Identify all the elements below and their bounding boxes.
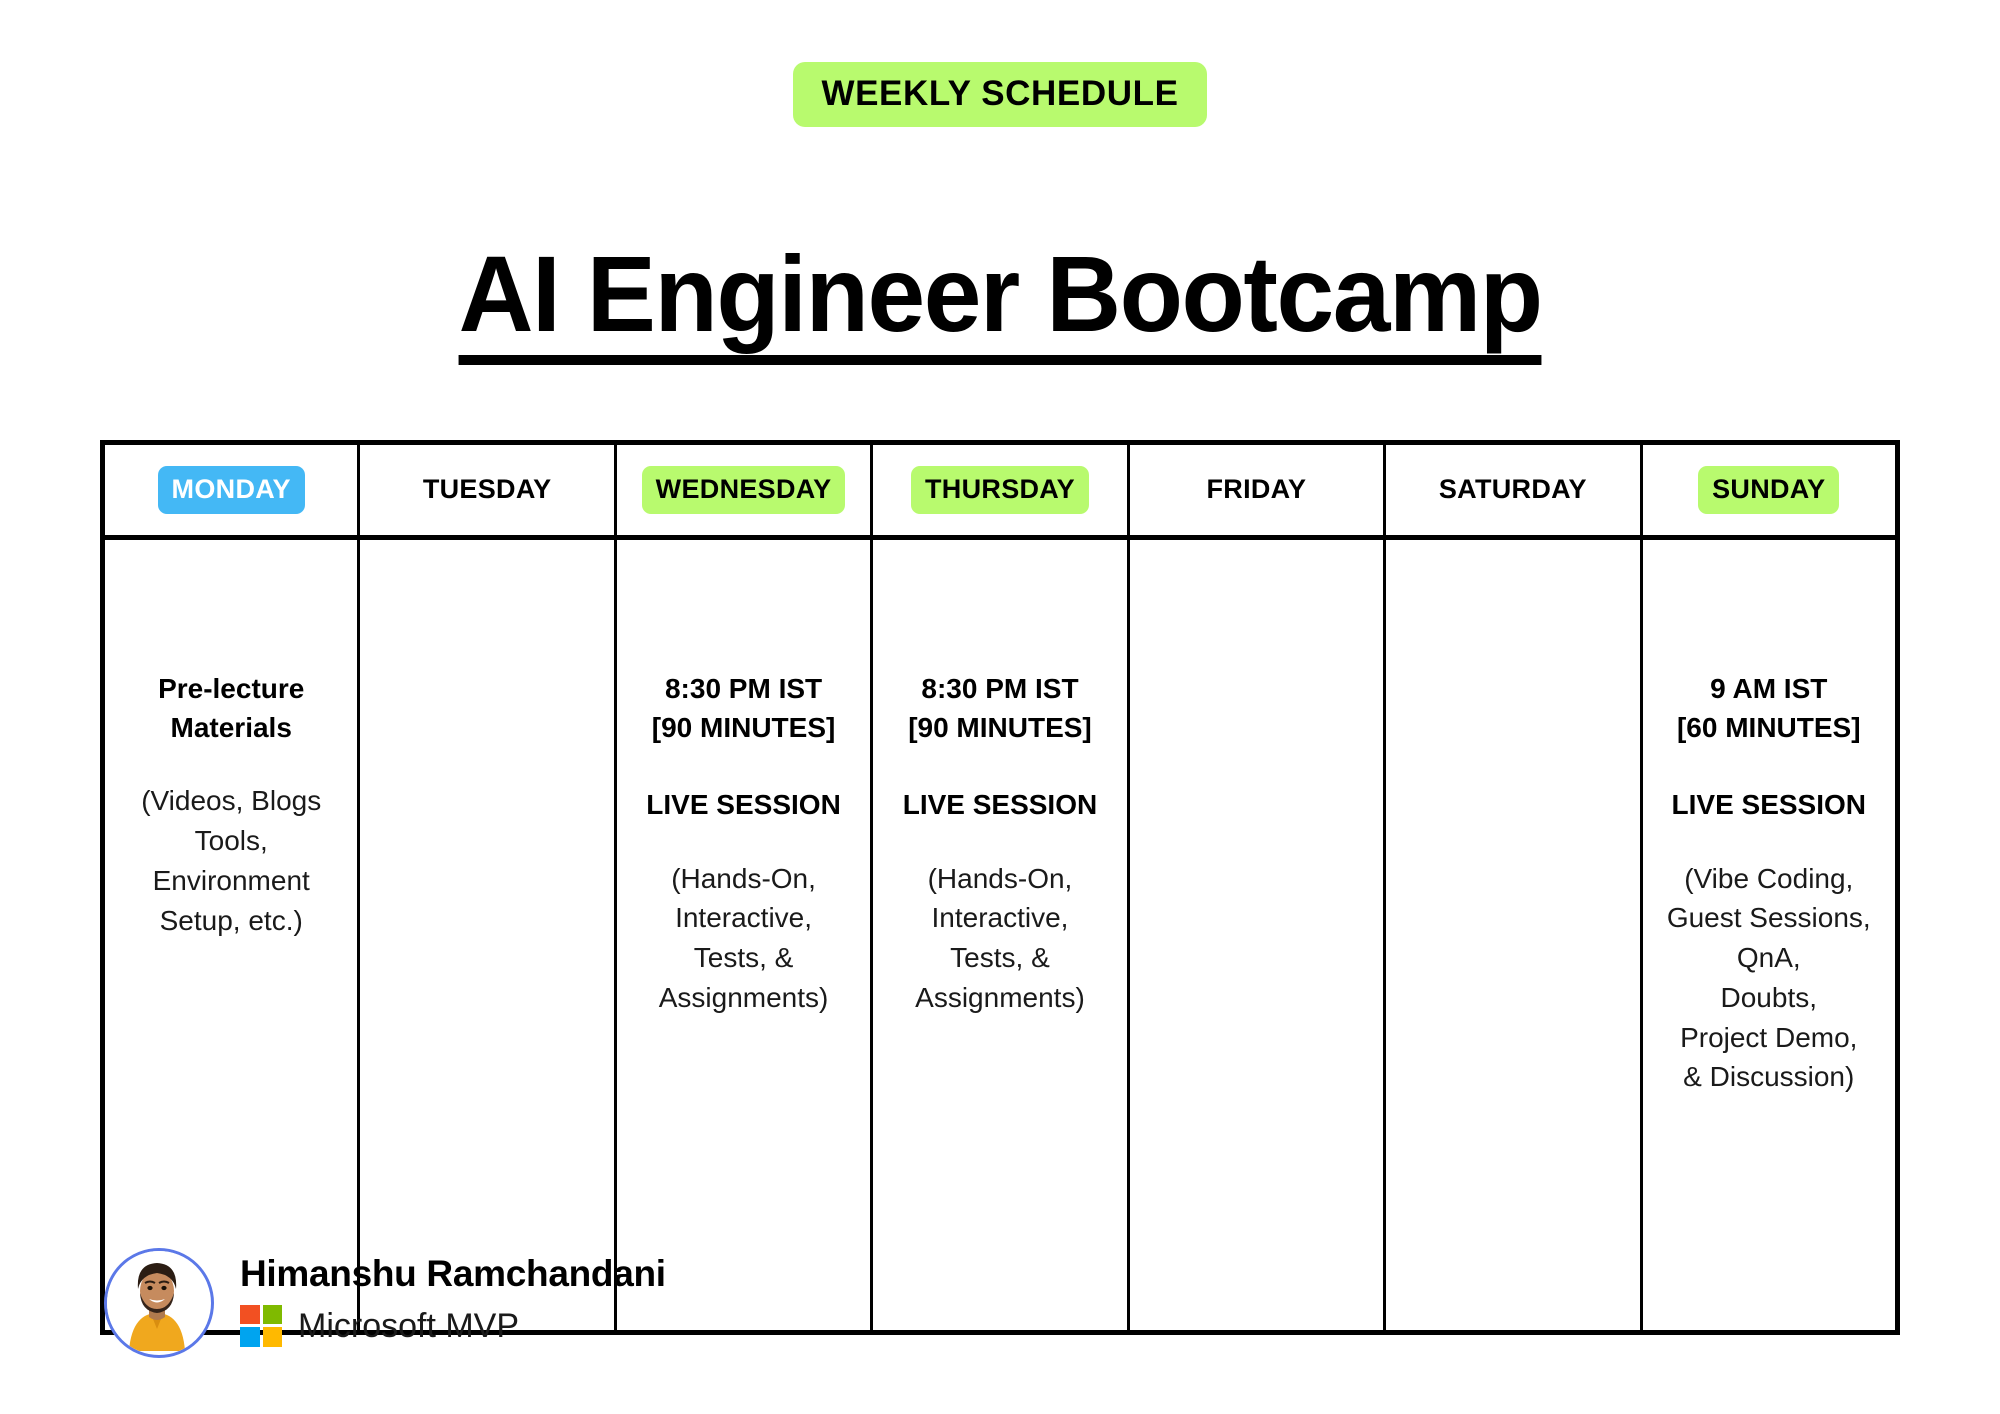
ms-square-yellow: [263, 1327, 283, 1347]
cell-spacer: [633, 825, 854, 859]
cell-spacer: [1659, 825, 1879, 859]
cell-wednesday-heading: 8:30 PM IST [90 MINUTES] LIVE SESSION: [633, 670, 854, 825]
table-row: Pre-lecture Materials (Videos, Blogs Too…: [103, 538, 1898, 1333]
column-header-thursday: THURSDAY: [872, 443, 1128, 538]
day-badge-friday: FRIDAY: [1192, 466, 1320, 514]
cell-spacer: [376, 670, 597, 704]
cell-spacer: [1146, 670, 1367, 704]
author-name: Himanshu Ramchandani: [240, 1254, 666, 1295]
cell-thursday-detail: (Hands-On, Interactive, Tests, & Assignm…: [889, 859, 1110, 1018]
day-badge-monday: MONDAY: [158, 466, 305, 514]
schedule-table-head: MONDAY TUESDAY WEDNESDAY THURSDAY FRIDAY…: [103, 443, 1898, 538]
ms-square-green: [263, 1305, 283, 1325]
day-badge-sunday: SUNDAY: [1698, 466, 1839, 514]
footer-author-block: Himanshu Ramchandani Microsoft MVP: [104, 1248, 666, 1358]
microsoft-logo-icon: [240, 1305, 282, 1347]
cell-monday-detail: (Videos, Blogs Tools, Environment Setup,…: [121, 781, 341, 940]
day-badge-tuesday: TUESDAY: [409, 466, 566, 514]
page-title: AI Engineer Bootcamp: [458, 237, 1541, 364]
weekly-schedule-table: MONDAY TUESDAY WEDNESDAY THURSDAY FRIDAY…: [100, 440, 1900, 1335]
cell-spacer: [121, 747, 341, 781]
cell-monday: Pre-lecture Materials (Videos, Blogs Too…: [103, 538, 359, 1333]
cell-friday: [1128, 538, 1384, 1333]
cell-spacer: [1402, 670, 1623, 704]
avatar-photo-icon: [107, 1251, 207, 1351]
table-header-row: MONDAY TUESDAY WEDNESDAY THURSDAY FRIDAY…: [103, 443, 1898, 538]
schedule-table-wrapper: MONDAY TUESDAY WEDNESDAY THURSDAY FRIDAY…: [100, 440, 1900, 1335]
column-header-saturday: SATURDAY: [1385, 443, 1641, 538]
cell-spacer: [889, 825, 1110, 859]
column-header-friday: FRIDAY: [1128, 443, 1384, 538]
column-header-wednesday: WEDNESDAY: [615, 443, 871, 538]
day-badge-thursday: THURSDAY: [911, 466, 1089, 514]
day-badge-saturday: SATURDAY: [1425, 466, 1601, 514]
cell-wednesday-detail: (Hands-On, Interactive, Tests, & Assignm…: [633, 859, 854, 1018]
mvp-label: Microsoft MVP: [298, 1309, 519, 1343]
page-title-row: AI Engineer Bootcamp: [0, 165, 2000, 437]
schedule-table-body: Pre-lecture Materials (Videos, Blogs Too…: [103, 538, 1898, 1333]
cell-saturday: [1385, 538, 1641, 1333]
column-header-monday: MONDAY: [103, 443, 359, 538]
ms-square-red: [240, 1305, 260, 1325]
weekly-schedule-badge: WEEKLY SCHEDULE: [793, 62, 1206, 127]
cell-monday-heading: Pre-lecture Materials: [121, 670, 341, 747]
column-header-tuesday: TUESDAY: [359, 443, 615, 538]
cell-wednesday: 8:30 PM IST [90 MINUTES] LIVE SESSION (H…: [615, 538, 871, 1333]
avatar: [104, 1248, 214, 1358]
cell-thursday-heading: 8:30 PM IST [90 MINUTES] LIVE SESSION: [889, 670, 1110, 825]
cell-sunday-detail: (Vibe Coding, Guest Sessions, QnA, Doubt…: [1659, 859, 1879, 1098]
cell-sunday-heading: 9 AM IST [60 MINUTES] LIVE SESSION: [1659, 670, 1879, 825]
cell-tuesday: [359, 538, 615, 1333]
mvp-row: Microsoft MVP: [240, 1305, 666, 1347]
column-header-sunday: SUNDAY: [1641, 443, 1897, 538]
cell-sunday: 9 AM IST [60 MINUTES] LIVE SESSION (Vibe…: [1641, 538, 1897, 1333]
footer-text-block: Himanshu Ramchandani Microsoft MVP: [240, 1248, 666, 1347]
cell-thursday: 8:30 PM IST [90 MINUTES] LIVE SESSION (H…: [872, 538, 1128, 1333]
schedule-badge-row: WEEKLY SCHEDULE: [0, 0, 2000, 127]
ms-square-blue: [240, 1327, 260, 1347]
day-badge-wednesday: WEDNESDAY: [642, 466, 846, 514]
